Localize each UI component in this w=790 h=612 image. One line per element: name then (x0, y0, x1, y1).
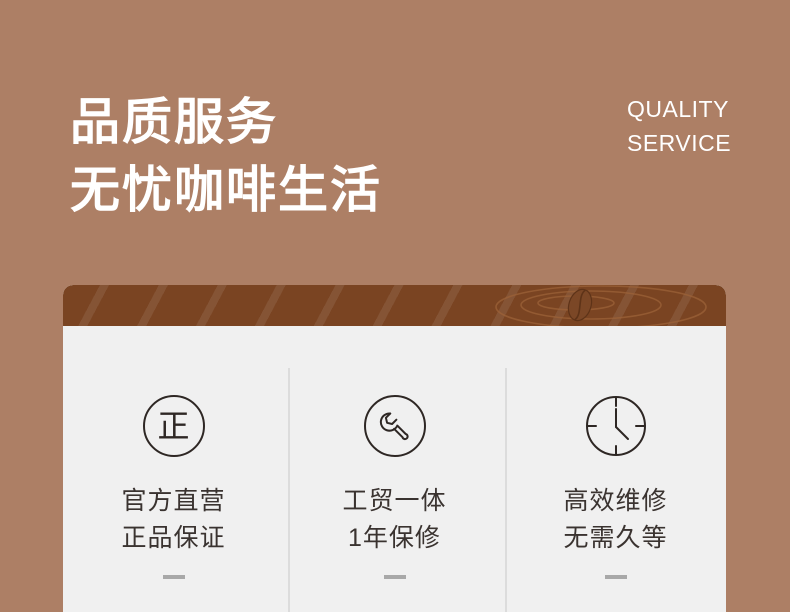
feature-label-line-1: 官方直营 (121, 483, 225, 520)
feature-label-line-1: 高效维修 (563, 483, 667, 520)
wrench-icon-svg (375, 406, 415, 446)
feature-label-official: 官方直营 正品保证 (121, 483, 225, 557)
feature-dash (384, 575, 406, 579)
eyebrow-text: QUALITY SERVICE (627, 92, 777, 160)
zheng-character-icon: 正 (143, 395, 205, 457)
card-header-band (63, 285, 726, 326)
zheng-character-glyph: 正 (157, 410, 189, 442)
eyebrow-line-2: SERVICE (627, 126, 777, 160)
clock-icon (585, 395, 647, 457)
feature-label-line-1: 工贸一体 (342, 483, 446, 520)
feature-dash (163, 575, 185, 579)
headline-line-1: 品质服务 (70, 88, 590, 156)
eyebrow-line-1: QUALITY (627, 92, 777, 126)
feature-label-line-2: 正品保证 (121, 520, 225, 557)
feature-item-repair[interactable]: 高效维修 无需久等 (505, 326, 726, 612)
feature-label-repair: 高效维修 无需久等 (563, 483, 667, 557)
headline-line-2: 无忧咖啡生活 (70, 156, 590, 224)
feature-item-official[interactable]: 正 官方直营 正品保证 (63, 326, 284, 612)
feature-item-warranty[interactable]: 工贸一体 1年保修 (284, 326, 505, 612)
feature-columns: 正 官方直营 正品保证 工贸一体 1年保修 (63, 326, 726, 612)
clock-icon-svg (585, 395, 647, 457)
service-card: 正 官方直营 正品保证 工贸一体 1年保修 (63, 285, 726, 612)
coffee-bean-icon (566, 286, 594, 324)
feature-label-line-2: 1年保修 (342, 520, 446, 557)
wrench-icon (364, 395, 426, 457)
feature-label-line-2: 无需久等 (563, 520, 667, 557)
feature-dash (605, 575, 627, 579)
page-headline: 品质服务 无忧咖啡生活 (70, 88, 590, 224)
feature-label-warranty: 工贸一体 1年保修 (342, 483, 446, 557)
